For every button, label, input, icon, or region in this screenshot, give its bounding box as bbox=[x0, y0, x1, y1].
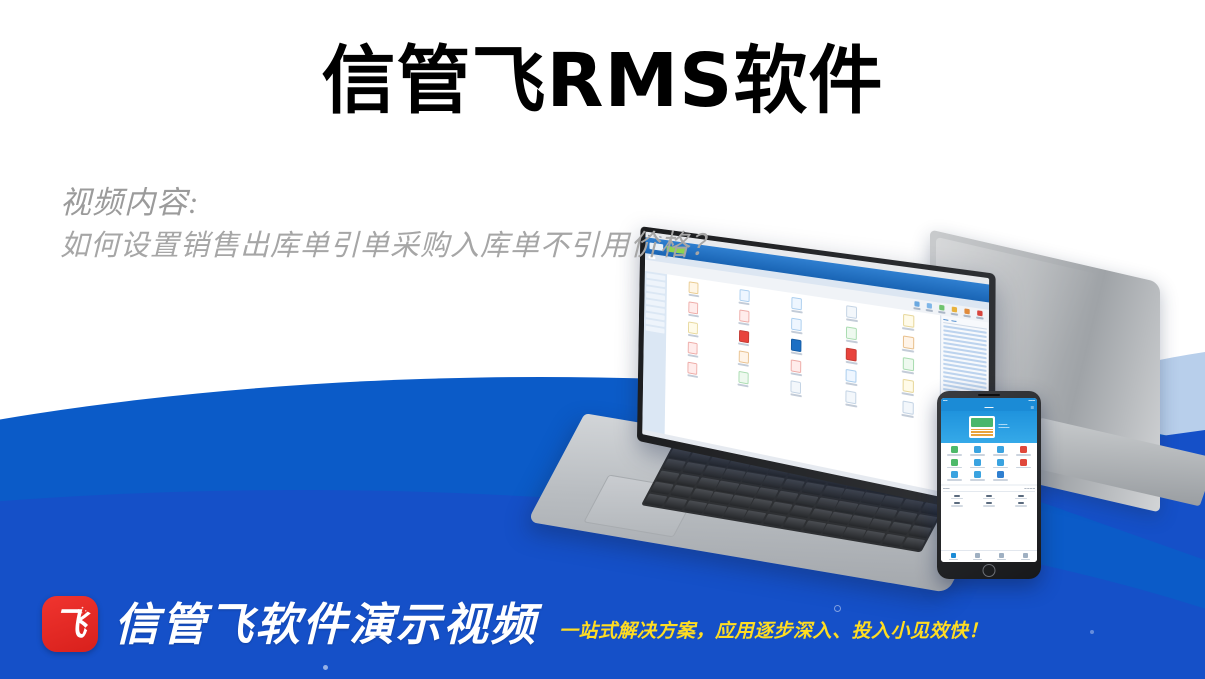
sidebar-item[interactable] bbox=[646, 326, 665, 334]
user-icon[interactable] bbox=[913, 301, 919, 310]
right-panel-list[interactable] bbox=[943, 323, 987, 398]
phone-carrier: ▬▬ bbox=[943, 400, 947, 402]
video-content-label: 视频内容: bbox=[60, 183, 720, 223]
tab-home[interactable] bbox=[941, 553, 965, 560]
stat-item bbox=[1006, 495, 1035, 499]
banner-card-icon bbox=[969, 416, 995, 438]
brand-logo-icon: 飞 bbox=[42, 596, 98, 652]
note-icon[interactable] bbox=[926, 303, 932, 312]
phone-app-header: ▬▬▬ ☰ bbox=[941, 403, 1037, 411]
grid-icon[interactable] bbox=[1013, 459, 1035, 469]
stat-item bbox=[1006, 502, 1035, 506]
grid-icon[interactable] bbox=[990, 446, 1012, 456]
phone-icon-grid[interactable] bbox=[941, 443, 1037, 484]
hamburger-menu-icon[interactable]: ☰ bbox=[1030, 405, 1034, 410]
sparkle-icon bbox=[76, 605, 89, 618]
stat-item bbox=[943, 495, 972, 499]
right-tab-common[interactable]: ▬▬ bbox=[943, 318, 948, 322]
phone-app-title: ▬▬▬ bbox=[985, 405, 994, 409]
lock-icon[interactable] bbox=[951, 306, 957, 315]
stat-item bbox=[975, 495, 1004, 499]
phone-screen: ▬▬ ▬▬▬ ▬▬▬ ☰ ▬▬▬▬▬▬▬▬▬ bbox=[941, 398, 1037, 562]
smartphone: ▬▬ ▬▬▬ ▬▬▬ ☰ ▬▬▬▬▬▬▬▬▬ bbox=[937, 391, 1041, 579]
grid-icon[interactable] bbox=[990, 471, 1012, 481]
grid-icon[interactable] bbox=[966, 471, 988, 481]
video-content-block: 视频内容: 如何设置销售出库单引单采购入库单不引用价格？ bbox=[60, 183, 720, 266]
banner-caption: ▬▬▬▬▬▬▬▬▬ bbox=[999, 424, 1010, 431]
grid-icon[interactable] bbox=[943, 471, 965, 481]
stat-item bbox=[975, 502, 1004, 506]
tab-reports[interactable] bbox=[989, 553, 1013, 560]
video-content-question: 如何设置销售出库单引单采购入库单不引用价格？ bbox=[60, 227, 720, 266]
tab-mine[interactable] bbox=[1013, 553, 1037, 560]
grid-icon[interactable] bbox=[990, 459, 1012, 469]
brand-tagline: 一站式解决方案，应用逐步深入、投入小见效快！ bbox=[559, 622, 988, 641]
phone-stats-panel: ▬▬▬ ▬ ▬ ▬ ▬ bbox=[941, 486, 1037, 550]
stats-grid bbox=[943, 492, 1035, 507]
grid-icon[interactable] bbox=[943, 459, 965, 469]
right-tab-notice[interactable]: ▬▬ bbox=[951, 319, 956, 323]
grid-icon[interactable] bbox=[1013, 446, 1035, 456]
phone-banner: ▬▬▬▬▬▬▬▬▬ bbox=[941, 411, 1037, 443]
app-sidebar[interactable] bbox=[642, 271, 667, 434]
tab-documents[interactable] bbox=[965, 553, 989, 560]
help-icon[interactable] bbox=[963, 308, 969, 317]
refresh-icon[interactable] bbox=[938, 305, 944, 314]
phone-speaker bbox=[978, 394, 1000, 396]
stat-item bbox=[943, 502, 972, 506]
page-title: 信管飞RMS软件 bbox=[0, 44, 1205, 118]
exit-icon[interactable] bbox=[976, 310, 982, 319]
brand-name: 信管飞软件演示视频 bbox=[114, 602, 537, 647]
phone-signal-battery: ▬▬▬ bbox=[1028, 400, 1035, 402]
grid-icon-empty bbox=[1013, 471, 1035, 481]
grid-icon[interactable] bbox=[966, 459, 988, 469]
stats-filters[interactable]: ▬ ▬ ▬ ▬ bbox=[1024, 488, 1035, 490]
phone-tabbar[interactable] bbox=[941, 550, 1037, 562]
grid-icon[interactable] bbox=[966, 446, 988, 456]
grid-icon[interactable] bbox=[943, 446, 965, 456]
stats-title: ▬▬▬ bbox=[943, 488, 950, 490]
brand-bar: 飞 信管飞软件演示视频 一站式解决方案，应用逐步深入、投入小见效快！ bbox=[0, 569, 1205, 679]
